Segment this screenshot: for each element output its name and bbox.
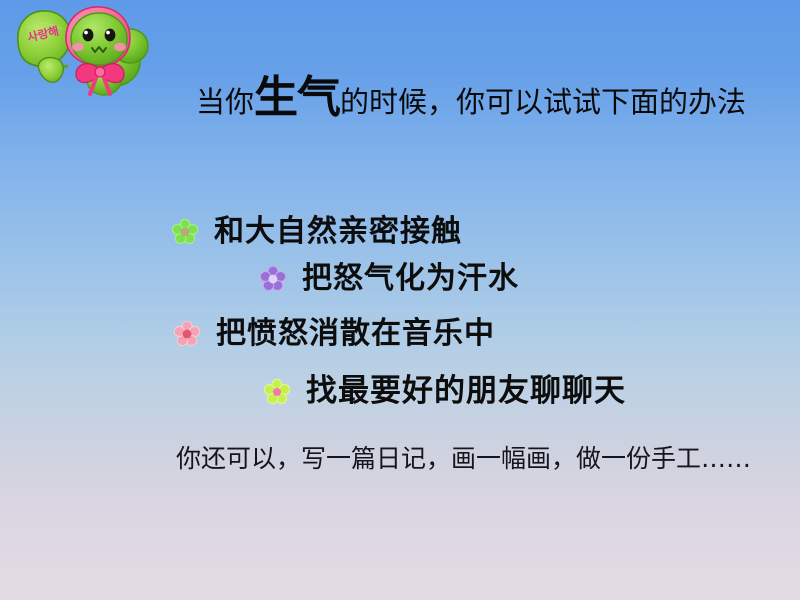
title-emphasis: 生气: [254, 72, 340, 123]
list-item-label: 和大自然亲密接触: [214, 217, 462, 247]
caterpillar-mascot-illustration: 사랑해: [6, 2, 166, 112]
list-item-label: 把怒气化为汗水: [302, 264, 519, 294]
flower-bullet-purple-icon: [260, 266, 286, 292]
flower-bullet-yellow-green-icon: [264, 379, 290, 405]
cheek-left: [72, 43, 84, 51]
slide-canvas: 사랑해: [0, 0, 800, 600]
page-title: 当你生气的时候，你可以试试下面的办法: [196, 76, 746, 120]
caterpillar-mascot-icon: 사랑해: [6, 2, 166, 112]
list-item-label: 把愤怒消散在音乐中: [216, 319, 495, 349]
eye-left: [83, 29, 94, 42]
list-item: 和大自然亲密接触: [172, 217, 462, 247]
cheek-right: [114, 43, 126, 51]
flower-bullet-pink-icon: [174, 321, 200, 347]
list-item: 把愤怒消散在音乐中: [174, 319, 495, 349]
caterpillar-head: [66, 7, 130, 66]
small-leaf-shape: [38, 58, 63, 83]
list-item: 找最要好的朋友聊聊天: [264, 376, 626, 407]
list-item-label: 找最要好的朋友聊聊天: [306, 376, 626, 407]
flower-bullet-green-icon: [172, 219, 198, 245]
footer-note: 你还可以，写一篇日记，画一幅画，做一份手工……: [176, 446, 751, 471]
title-suffix: 的时候，你可以试试下面的办法: [340, 85, 746, 119]
eye-right: [105, 29, 116, 42]
list-item: 把怒气化为汗水: [260, 264, 519, 294]
title-prefix: 当你: [196, 85, 254, 119]
